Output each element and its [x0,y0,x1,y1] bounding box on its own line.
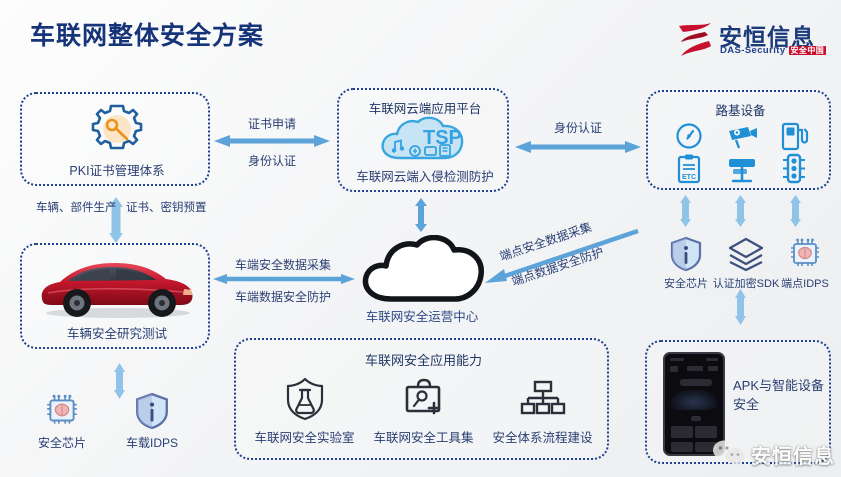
vehicle-test-box[interactable]: 车辆安全研究测试 [20,243,210,349]
cloud-platform-box[interactable]: 车联网云端应用平台 TSP 车联网云端入侵检测防护 [337,88,509,192]
brand-logo: 安恒信息 DAS-Security安全中国 [675,18,835,66]
slide-canvas: 车联网整体安全方案 安恒信息 DAS-Security安全中国 PKI证书管理体… [0,0,841,477]
endpoint-chip-label-2: 端点IDPS [774,275,836,291]
capability-box[interactable]: 车联网安全应用能力 车联网安全实验室 车联网安全工具集 [234,338,609,460]
arrow-label-cert-preset: 证书、密钥预置 [126,200,196,217]
left-chip-security-chip[interactable]: 安全芯片 [26,392,98,451]
tsp-cloud-icon: TSP [377,116,473,162]
chip-brain-icon [39,392,85,430]
watermark: 安恒信息 [712,439,835,469]
logo-en-name: DAS-Security安全中国 [720,45,826,56]
roadside-title: 路基设备 [648,100,833,119]
layers-stack-icon [727,236,765,272]
cloud-platform-title: 车联网云端应用平台 [339,98,511,117]
endpoint-chip-security-chip[interactable]: 安全芯片 [655,236,717,291]
center-caption: 车联网安全运营中心 [342,306,502,325]
shield-flask-icon [283,376,327,422]
capability-item-process[interactable]: 安全体系流程建设 [480,376,605,446]
capability-label-2: 安全体系流程建设 [480,427,605,446]
left-chip-label-1: 车载IDPS [114,434,190,451]
svg-text:ETC: ETC [682,174,696,181]
road-sign-icon [726,154,758,184]
pki-caption: PKI证书管理体系 [22,160,212,179]
shield-info-icon [134,392,170,430]
cloud-platform-caption: 车联网云端入侵检测防护 [339,166,511,185]
logo-tag: 安全中国 [789,46,827,55]
endpoint-chip-idps[interactable]: 端点IDPS [774,236,836,291]
watermark-text: 安恒信息 [751,440,835,469]
capability-label-1: 车联网安全工具集 [361,427,486,446]
etc-gantry-icon: ETC [674,154,704,184]
arrow-pki-platform [212,133,332,149]
capability-item-lab[interactable]: 车联网安全实验室 [242,376,367,446]
cloud-outline-icon [357,235,487,307]
das-swoosh-icon [675,20,715,60]
arrow-label-production: 车辆、部件生产 [36,200,106,217]
red-sedan-image [34,253,200,319]
traffic-camera-icon [726,122,758,150]
arrow-label-vehicle-protect: 车端数据安全防护 [213,288,353,305]
page-title: 车联网整体安全方案 [30,16,264,52]
endpoint-chip-label-0: 安全芯片 [655,275,717,291]
chip-brain-icon [785,236,825,272]
traffic-light-icon [781,153,807,185]
capability-label-0: 车联网安全实验室 [242,427,367,446]
charging-station-icon [779,121,809,151]
roadside-box[interactable]: 路基设备 ETC [646,90,831,190]
left-chip-label-0: 安全芯片 [26,434,98,451]
arrow-platform-center [414,197,428,233]
toolbox-wrench-icon [401,376,447,422]
logo-en-text: DAS-Security [720,45,786,56]
endpoint-chip-sdk[interactable]: 认证加密SDK [711,236,781,291]
arrow-vehicle-center [211,272,357,286]
shield-info-icon [669,236,703,272]
left-chip-vehicle-idps[interactable]: 车载IDPS [114,392,190,451]
arrow-platform-roadside [513,139,643,155]
vehicle-test-caption: 车辆安全研究测试 [22,323,212,342]
capability-item-tools[interactable]: 车联网安全工具集 [361,376,486,446]
arrow-label-identity-auth-right: 身份认证 [513,119,643,136]
speedometer-icon [674,122,704,150]
capability-title: 车联网安全应用能力 [236,350,611,369]
wechat-icon [712,439,746,469]
gear-key-icon [82,100,152,158]
arrow-roadside-chip-2 [734,194,747,228]
pki-box[interactable]: PKI证书管理体系 [20,92,210,186]
arrow-label-identity-auth-left: 身份认证 [212,152,332,169]
arrow-label-cert-apply: 证书申请 [212,115,332,132]
arrow-roadside-chip-1 [679,194,692,228]
arrow-chips-apk [734,288,747,326]
org-chart-icon [520,376,566,422]
arrow-roadside-chip-3 [789,194,802,228]
apk-caption: APK与智能设备安全 [733,376,827,414]
arrow-label-vehicle-collect: 车端安全数据采集 [213,256,353,273]
